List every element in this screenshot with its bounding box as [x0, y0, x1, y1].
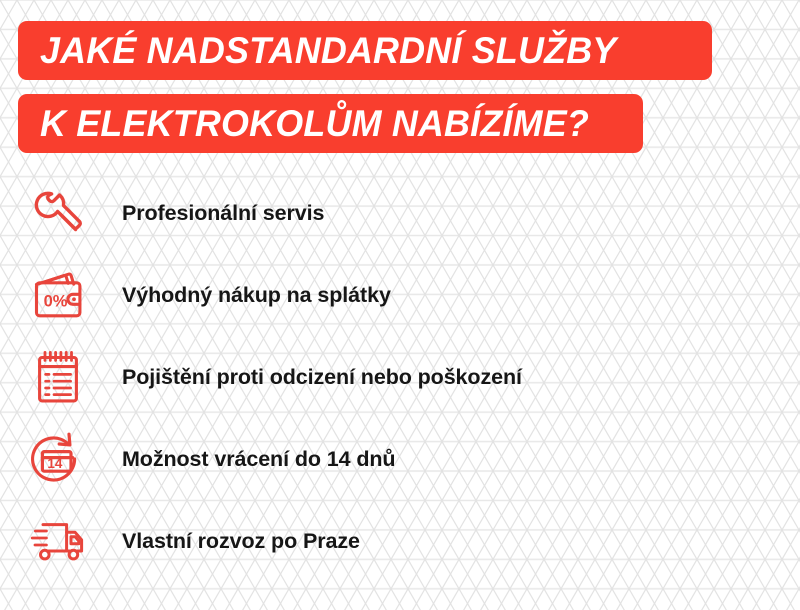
headline-banner-line-1: JAKÉ NADSTANDARDNÍ SLUŽBY — [18, 21, 712, 80]
feature-row-return: 14 Možnost vrácení do 14 dnů — [0, 418, 800, 500]
feature-row-insurance: Pojištění proti odcizení nebo poškození — [0, 336, 800, 418]
headline-text-line-2: K ELEKTROKOLŮM NABÍZÍME? — [40, 105, 589, 142]
feature-label-installments: Výhodný nákup na splátky — [122, 283, 391, 308]
delivery-truck-icon — [26, 519, 90, 563]
feature-label-insurance: Pojištění proti odcizení nebo poškození — [122, 365, 522, 390]
return-badge-text: 14 — [47, 456, 63, 471]
wallet-zero-percent-icon: 0% — [26, 270, 90, 320]
return-14-days-icon: 14 — [26, 432, 90, 486]
feature-list: Profesionální servis 0% Výhodný nákup na… — [0, 172, 800, 582]
feature-label-service: Profesionální servis — [122, 201, 324, 226]
wrench-icon — [26, 187, 90, 239]
feature-label-return: Možnost vrácení do 14 dnů — [122, 447, 395, 472]
feature-row-delivery: Vlastní rozvoz po Praze — [0, 500, 800, 582]
promo-banner-page: JAKÉ NADSTANDARDNÍ SLUŽBY K ELEKTROKOLŮM… — [0, 0, 800, 610]
headline-banner-line-2: K ELEKTROKOLŮM NABÍZÍME? — [18, 94, 643, 153]
feature-row-service: Profesionální servis — [0, 172, 800, 254]
feature-row-installments: 0% Výhodný nákup na splátky — [0, 254, 800, 336]
notepad-insurance-icon — [26, 350, 90, 404]
feature-label-delivery: Vlastní rozvoz po Praze — [122, 529, 360, 554]
headline-text-line-1: JAKÉ NADSTANDARDNÍ SLUŽBY — [40, 32, 616, 69]
wallet-badge-text: 0% — [44, 292, 68, 310]
